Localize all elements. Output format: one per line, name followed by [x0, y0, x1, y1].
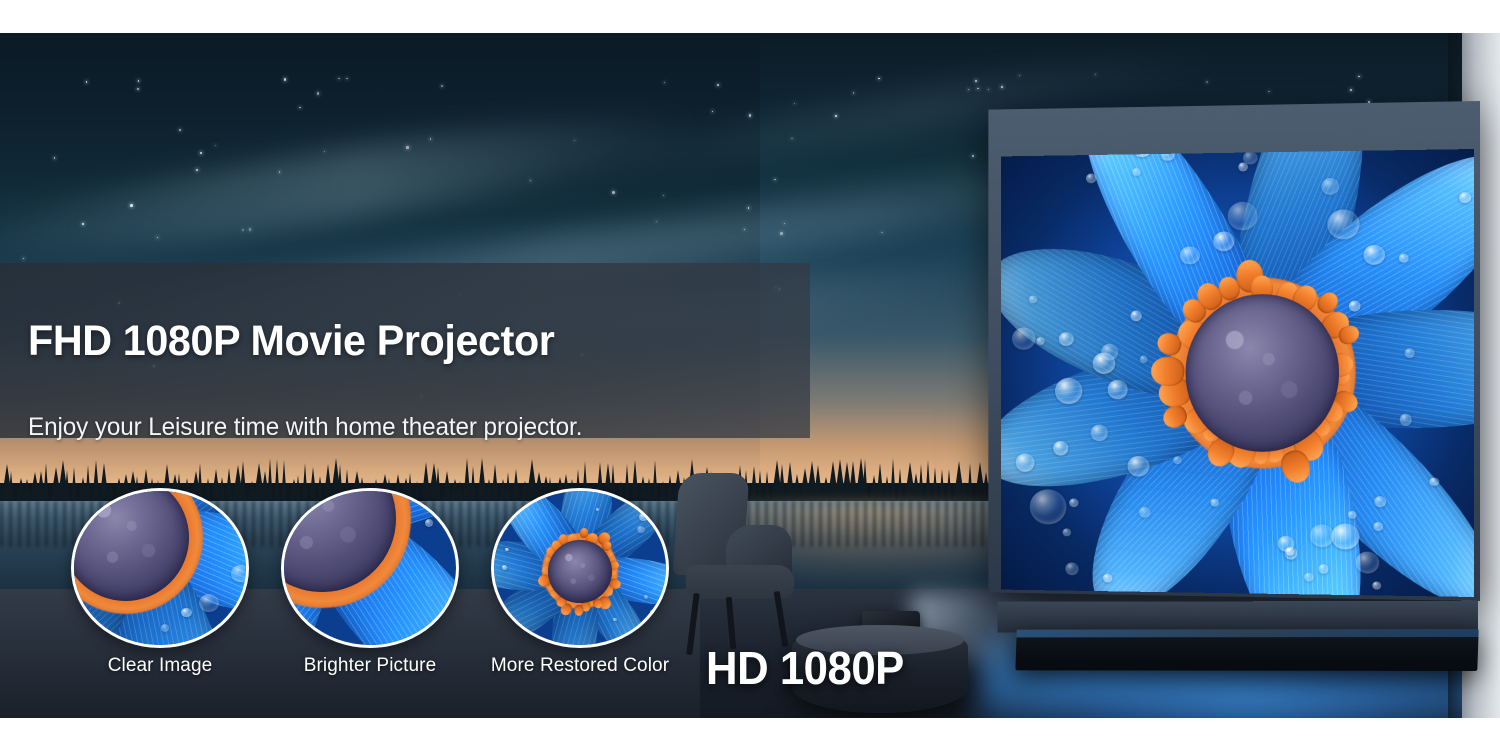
feature-label: Clear Image: [65, 655, 255, 677]
flower-petal-droplets-closeup-icon: [71, 488, 249, 648]
water-droplet: [505, 548, 509, 552]
feature-item-2[interactable]: Brighter Picture: [275, 488, 465, 677]
water-droplet: [613, 618, 616, 621]
hd-resolution-badge: HD 1080P: [706, 641, 904, 695]
feature-item-1[interactable]: Clear Image: [65, 488, 255, 677]
top-white-margin: [0, 0, 1500, 33]
flower-petal-bright-droplets-icon: [281, 488, 459, 648]
water-droplet: [199, 594, 219, 612]
feature-list: Clear ImageBrighter PictureMore Restored…: [0, 33, 1500, 718]
water-droplet: [502, 565, 507, 569]
water-droplet: [187, 641, 195, 648]
water-droplet: [425, 519, 433, 526]
water-droplet: [625, 640, 629, 644]
feature-label: More Restored Color: [485, 655, 675, 677]
flower-stamen: [574, 604, 584, 615]
feature-item-3[interactable]: More Restored Color: [485, 488, 675, 677]
water-droplet: [650, 610, 655, 614]
water-droplet: [639, 513, 647, 521]
water-droplet: [231, 565, 249, 582]
water-droplet: [637, 526, 644, 533]
water-droplet: [644, 595, 648, 599]
water-droplet: [181, 608, 192, 618]
product-banner: FHD 1080P Movie Projector Enjoy your Lei…: [0, 0, 1500, 750]
bottom-white-margin: [0, 718, 1500, 750]
flower-core-orange-stamens-icon: [491, 488, 669, 648]
water-droplet: [448, 614, 459, 627]
flower-core: [548, 540, 611, 603]
scene-photo: FHD 1080P Movie Projector Enjoy your Lei…: [0, 33, 1500, 718]
feature-label: Brighter Picture: [275, 655, 465, 677]
